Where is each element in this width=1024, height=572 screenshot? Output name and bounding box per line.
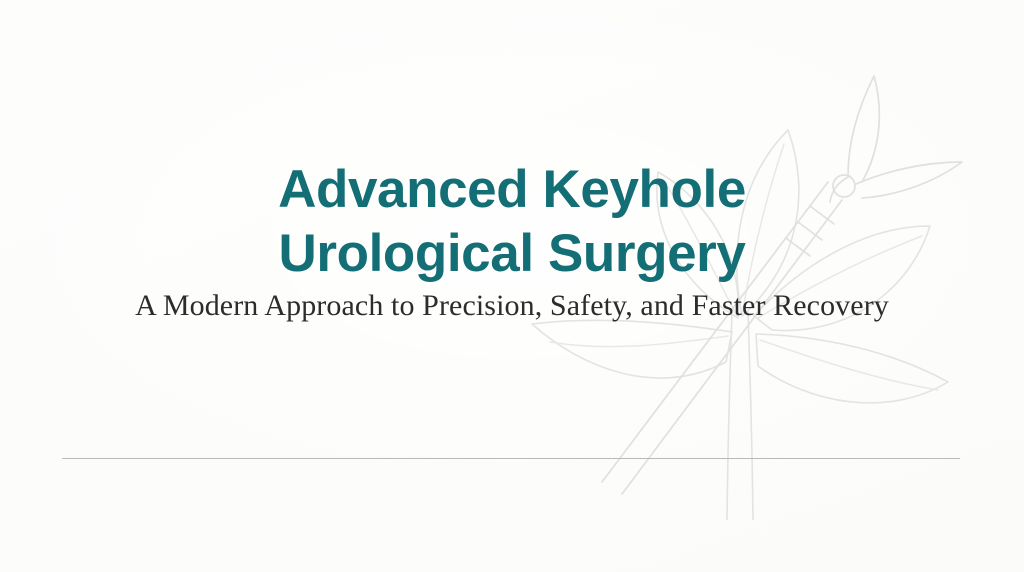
presentation-title-slide: Advanced Keyhole Urological Surgery A Mo… (0, 0, 1024, 572)
title-line-1: Advanced Keyhole (0, 158, 1024, 222)
slide-content: Advanced Keyhole Urological Surgery A Mo… (0, 0, 1024, 572)
footer-text (62, 470, 960, 540)
subtitle: A Modern Approach to Precision, Safety, … (0, 288, 1024, 324)
horizontal-divider (62, 458, 960, 459)
page-title: Advanced Keyhole Urological Surgery (0, 158, 1024, 286)
title-line-2: Urological Surgery (0, 222, 1024, 286)
